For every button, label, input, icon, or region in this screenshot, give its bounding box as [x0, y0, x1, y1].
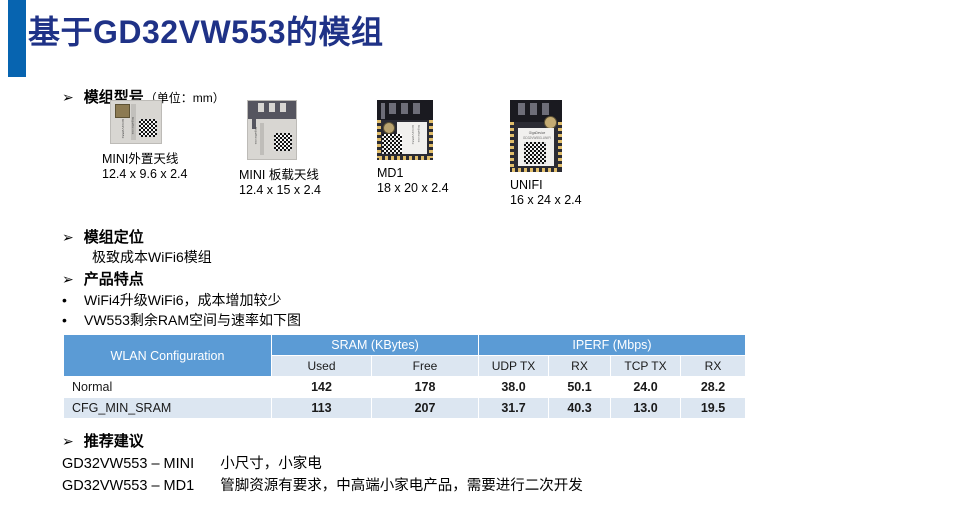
table-cell-free-1: 207	[372, 398, 479, 419]
module-dims-3: 16 x 24 x 2.4	[510, 193, 582, 208]
module-card-unifi: GigaDevice GD32VW553-UNIFI UNIFI 16 x 24…	[510, 100, 562, 172]
heading-features-text: 产品特点	[84, 268, 144, 289]
feature-item-0: • WiFi4升级WiFi6，成本增加较少	[62, 290, 282, 310]
table-subheader-tcp-tx: TCP TX	[611, 356, 681, 377]
positioning-body: 极致成本WiFi6模组	[92, 247, 212, 267]
recommendation-model-1: GD32VW553 – MD1	[62, 478, 194, 494]
arrow-bullet-icon: ➢	[62, 272, 74, 286]
recommendation-text-1: 管脚资源有要求，中高端小家电产品，需要进行二次开发	[220, 478, 583, 494]
module-name-3: UNIFI	[510, 178, 582, 193]
table-subheader-tcp-rx: RX	[681, 356, 746, 377]
module-caption-md1: MD1 18 x 20 x 2.4	[377, 166, 449, 196]
table-header-row-1: WLAN Configuration SRAM (KBytes) IPERF (…	[64, 335, 746, 356]
table-cell-config-0: Normal	[64, 377, 272, 398]
heading-positioning-text: 模组定位	[84, 226, 144, 247]
heading-positioning: ➢ 模组定位	[62, 226, 144, 247]
table-cell-used-1: 113	[272, 398, 372, 419]
table-cell-config-1: CFG_MIN_SRAM	[64, 398, 272, 419]
table-cell-udp-rx-0: 50.1	[549, 377, 611, 398]
table-cell-udp-rx-1: 40.3	[549, 398, 611, 419]
table-row: Normal 142 178 38.0 50.1 24.0 28.2	[64, 377, 746, 398]
module-image-md1: GigaDevice GD32VW553	[377, 100, 433, 160]
table-cell-tcp-tx-1: 13.0	[611, 398, 681, 419]
arrow-bullet-icon: ➢	[62, 90, 74, 104]
table-header-sram: SRAM (KBytes)	[272, 335, 479, 356]
table-header-config: WLAN Configuration	[64, 335, 272, 377]
performance-table: WLAN Configuration SRAM (KBytes) IPERF (…	[63, 334, 746, 419]
table-subheader-udp-rx: RX	[549, 356, 611, 377]
table-cell-free-0: 178	[372, 377, 479, 398]
feature-text-0: WiFi4升级WiFi6，成本增加较少	[84, 290, 282, 310]
table-cell-udp-tx-1: 31.7	[479, 398, 549, 419]
module-card-mini-onboard: GigaDevice MINI 板载天线 12.4 x 15 x 2.4	[247, 100, 297, 160]
module-caption-mini-onboard: MINI 板载天线 12.4 x 15 x 2.4	[239, 168, 321, 198]
table-cell-udp-tx-0: 38.0	[479, 377, 549, 398]
table-subheader-used: Used	[272, 356, 372, 377]
recommendation-line-0: GD32VW553 – MINI 小尺寸，小家电	[62, 452, 322, 473]
module-image-mini-external: GigaDevice GD32VW553	[110, 100, 162, 144]
heading-features: ➢ 产品特点	[62, 268, 144, 289]
table-cell-tcp-tx-0: 24.0	[611, 377, 681, 398]
table-subheader-free: Free	[372, 356, 479, 377]
dot-bullet-icon: •	[62, 292, 84, 308]
slide-title: 基于GD32VW553的模组	[28, 8, 384, 56]
recommendation-model-0: GD32VW553 – MINI	[62, 456, 194, 472]
module-caption-unifi: UNIFI 16 x 24 x 2.4	[510, 178, 582, 208]
table-cell-used-0: 142	[272, 377, 372, 398]
arrow-bullet-icon: ➢	[62, 434, 74, 448]
module-dims-0: 12.4 x 9.6 x 2.4	[102, 167, 187, 182]
dot-bullet-icon: •	[62, 312, 84, 328]
feature-item-1: • VW553剩余RAM空间与速率如下图	[62, 310, 301, 330]
module-image-mini-onboard: GigaDevice	[247, 100, 297, 160]
table-subheader-udp-tx: UDP TX	[479, 356, 549, 377]
module-card-mini-external: GigaDevice GD32VW553 MINI外置天线 12.4 x 9.6…	[110, 100, 162, 144]
table-header-iperf: IPERF (Mbps)	[479, 335, 746, 356]
module-name-0: MINI外置天线	[102, 152, 187, 167]
module-caption-mini-external: MINI外置天线 12.4 x 9.6 x 2.4	[102, 152, 187, 182]
recommendation-text-0: 小尺寸，小家电	[220, 456, 322, 472]
arrow-bullet-icon: ➢	[62, 230, 74, 244]
module-dims-2: 18 x 20 x 2.4	[377, 181, 449, 196]
module-name-1: MINI 板载天线	[239, 168, 321, 183]
module-image-unifi: GigaDevice GD32VW553-UNIFI	[510, 100, 562, 172]
module-dims-1: 12.4 x 15 x 2.4	[239, 183, 321, 198]
module-name-2: MD1	[377, 166, 449, 181]
title-accent-bar	[8, 0, 26, 77]
heading-recommendation-text: 推荐建议	[84, 430, 144, 451]
table-row: CFG_MIN_SRAM 113 207 31.7 40.3 13.0 19.5	[64, 398, 746, 419]
table-cell-tcp-rx-0: 28.2	[681, 377, 746, 398]
recommendation-line-1: GD32VW553 – MD1 管脚资源有要求，中高端小家电产品，需要进行二次开…	[62, 474, 583, 495]
table-cell-tcp-rx-1: 19.5	[681, 398, 746, 419]
module-gallery: GigaDevice GD32VW553 MINI外置天线 12.4 x 9.6…	[92, 100, 652, 210]
heading-recommendation: ➢ 推荐建议	[62, 430, 144, 451]
feature-text-1: VW553剩余RAM空间与速率如下图	[84, 310, 301, 330]
module-card-md1: GigaDevice GD32VW553 MD1 18 x 20 x 2.4	[377, 100, 433, 160]
